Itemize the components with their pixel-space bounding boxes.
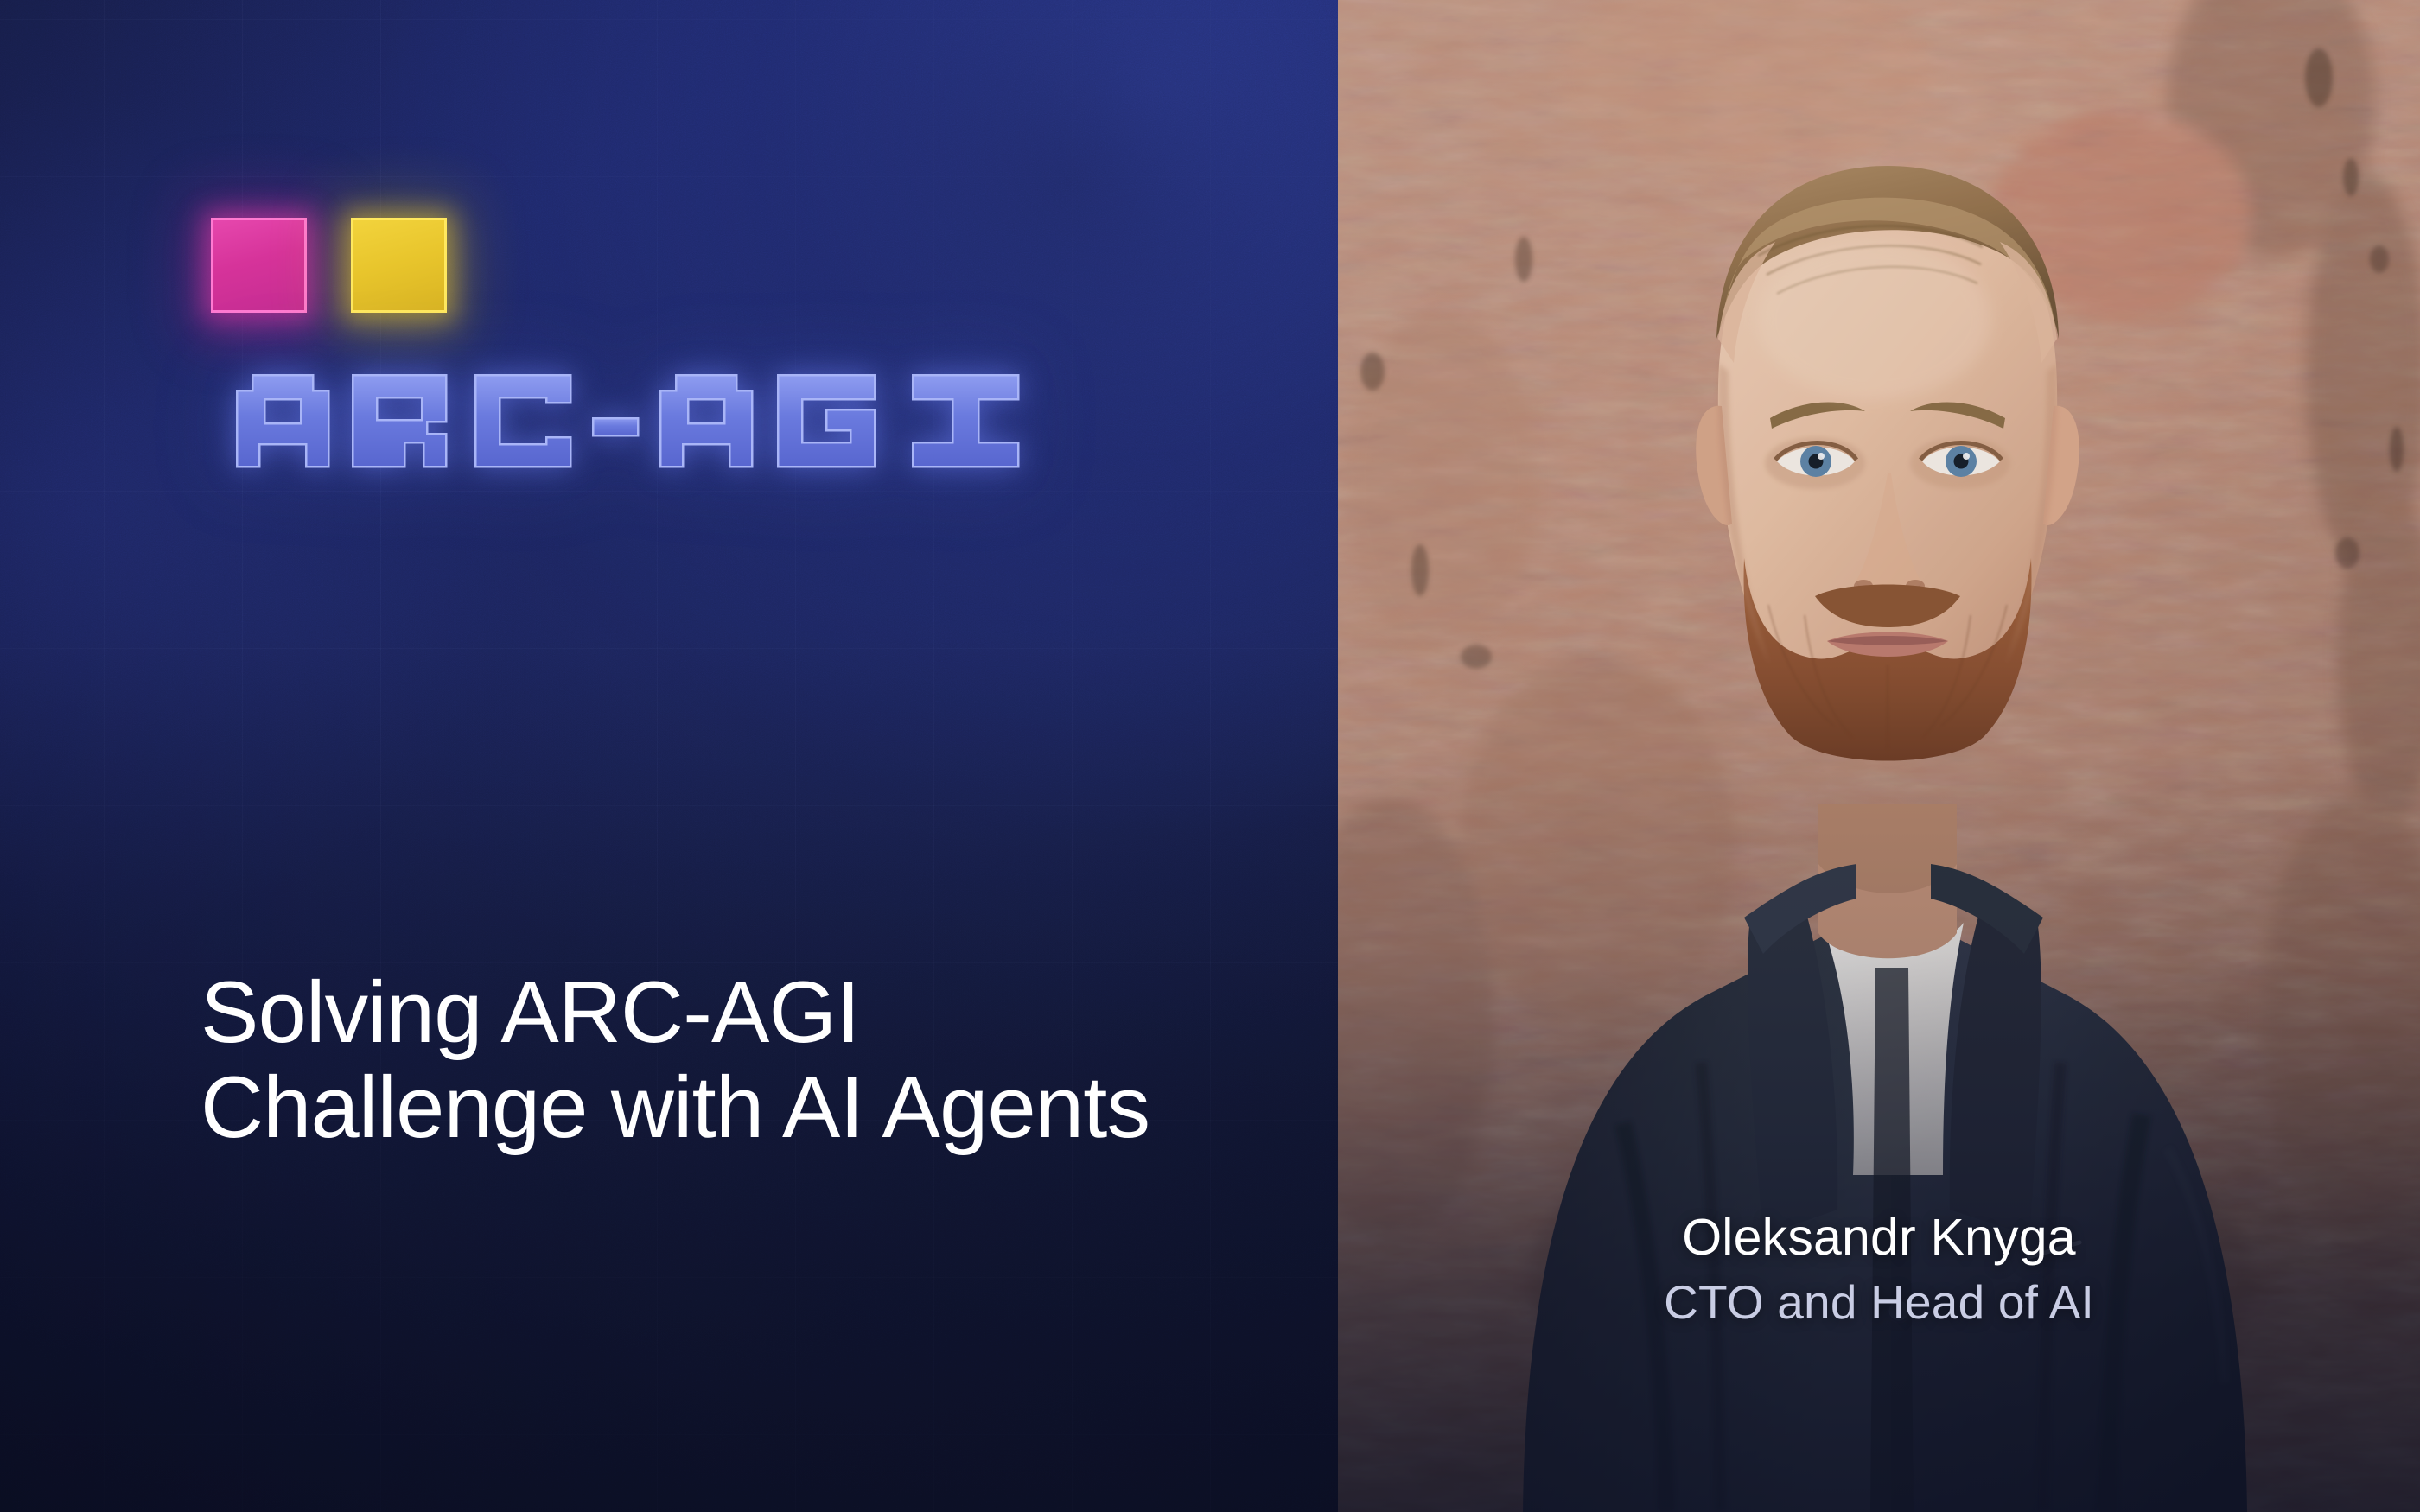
title-slide: Solving ARC-AGI Challenge with AI Agents	[0, 0, 2420, 1512]
speaker-name: Oleksandr Knyga	[1338, 1208, 2420, 1267]
left-panel: Solving ARC-AGI Challenge with AI Agents	[0, 0, 1338, 1512]
speaker-caption: Oleksandr Knyga CTO and Head of AI	[1338, 1208, 2420, 1331]
logo-squares	[211, 218, 453, 314]
slide-headline: Solving ARC-AGI Challenge with AI Agents	[201, 966, 1220, 1155]
speaker-role: CTO and Head of AI	[1338, 1275, 2420, 1331]
magenta-square-icon	[211, 218, 307, 313]
right-panel: Oleksandr Knyga CTO and Head of AI	[1338, 0, 2420, 1512]
arc-agi-logo	[211, 218, 1084, 314]
arc-agi-wordmark	[211, 365, 1084, 481]
yellow-square-icon	[351, 218, 447, 313]
